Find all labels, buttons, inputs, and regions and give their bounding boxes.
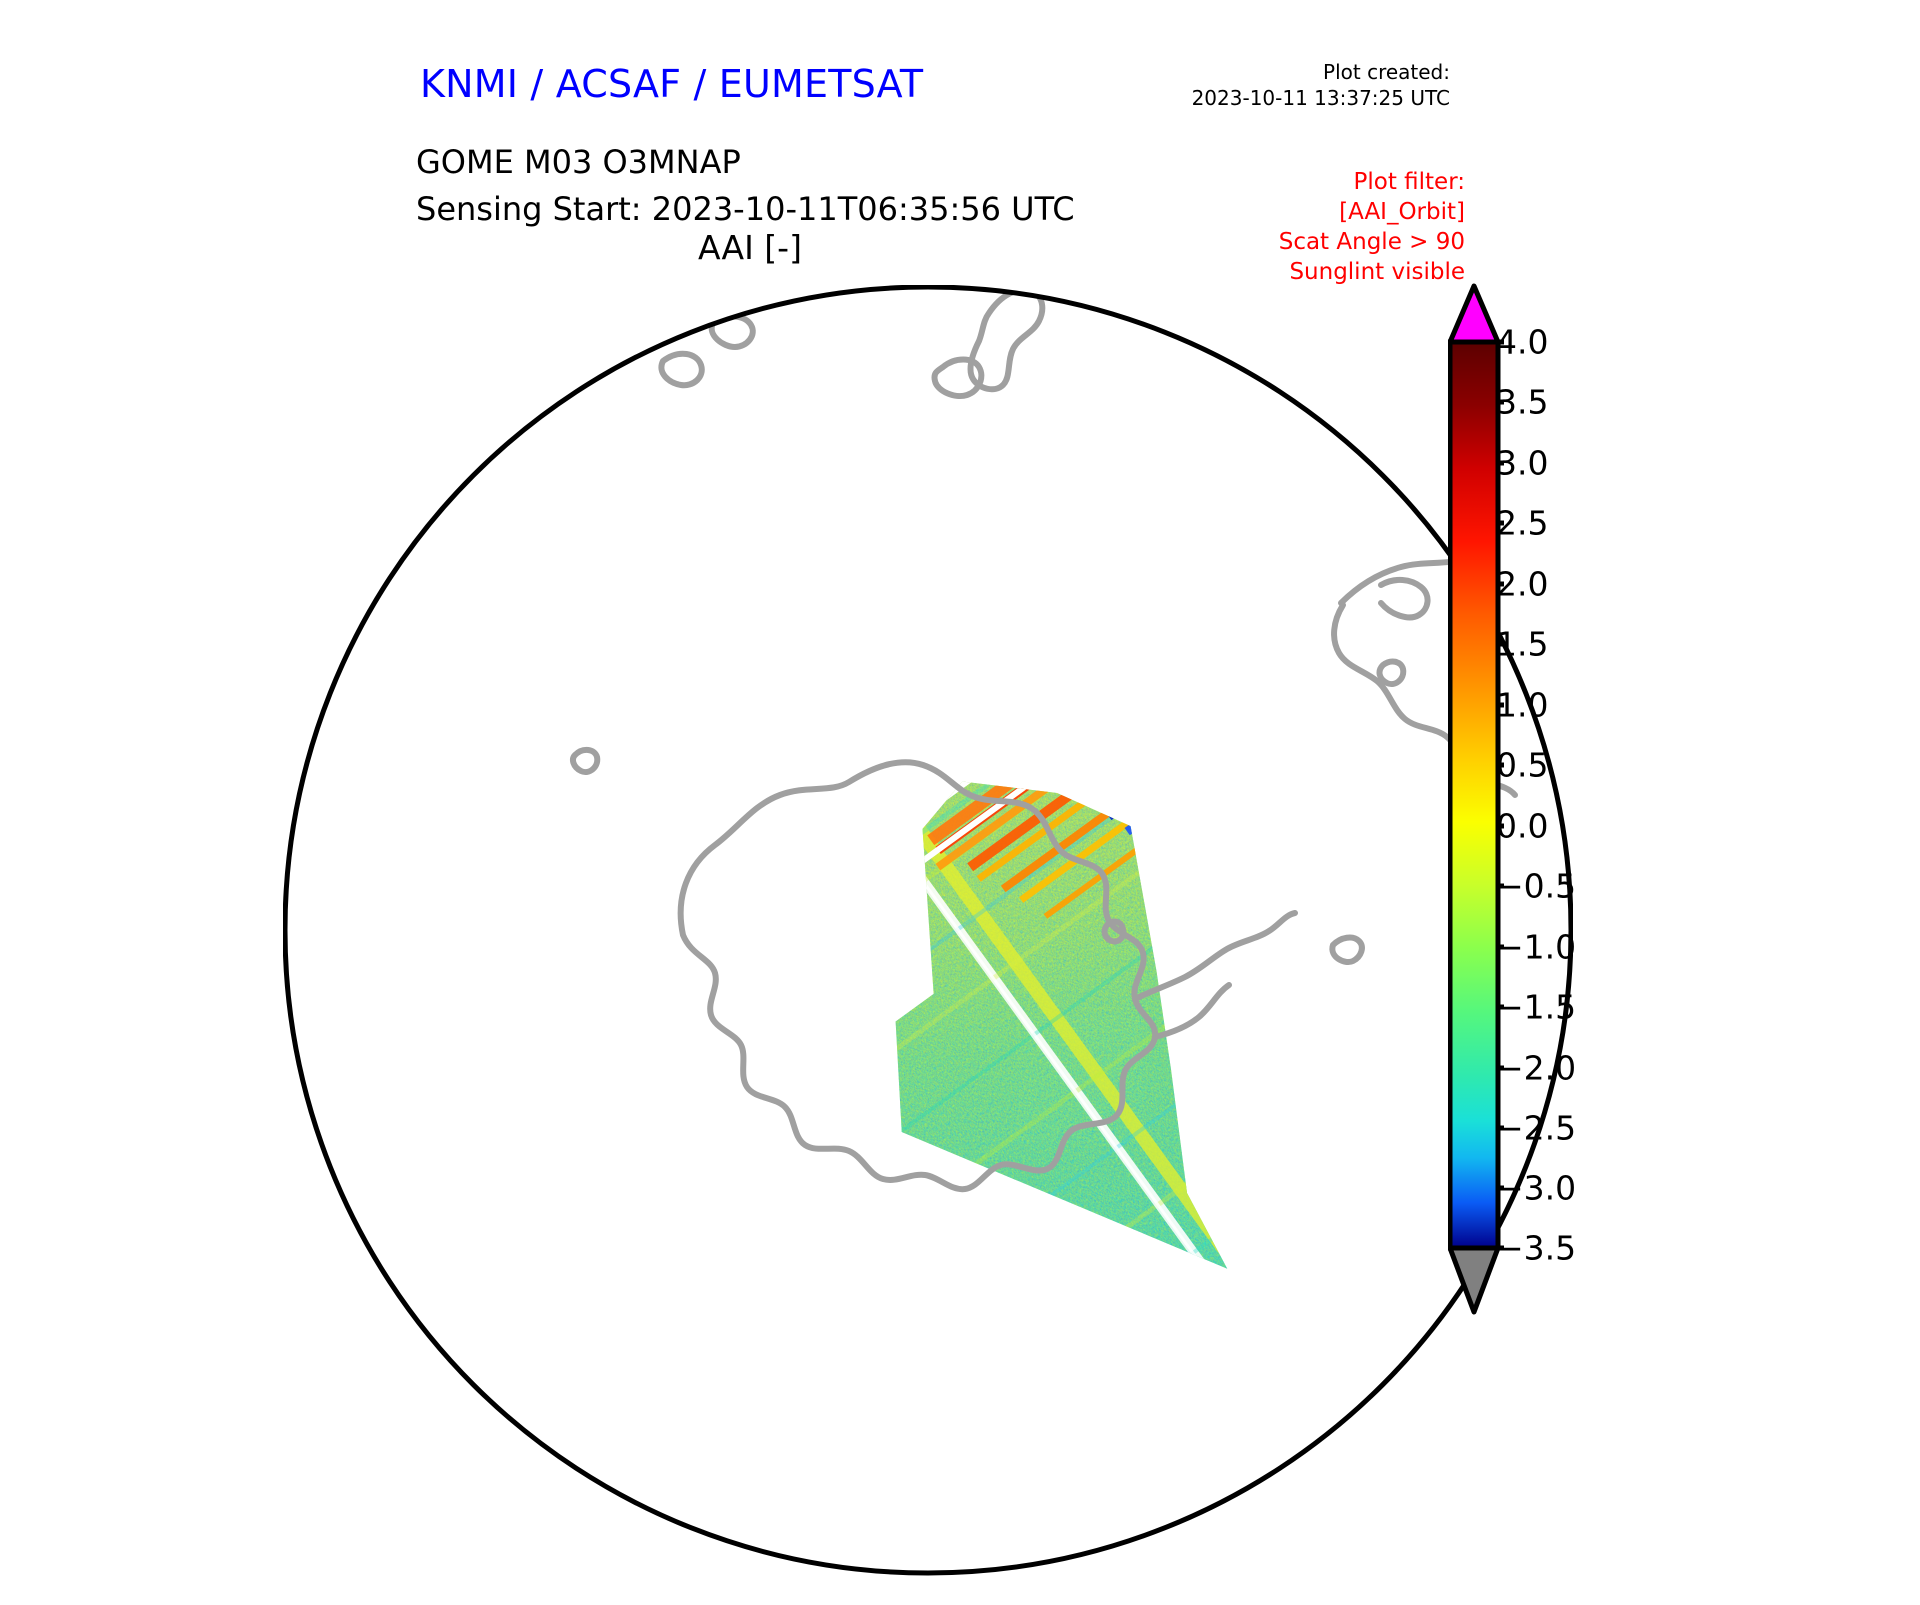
plot-created-label: Plot created: [1192,60,1450,86]
colorbar-under-arrow [1450,1248,1498,1312]
plot-created-block: Plot created: 2023-10-11 13:37:25 UTC [1192,60,1450,111]
sensing-start-line: Sensing Start: 2023-10-11T06:35:56 UTC [416,190,1075,228]
page-title: AAI [-] [0,228,1500,267]
colorbar-tick-labels: 4.0 3.5 3.0 2.5 2.0 1.5 1.0 0.5 0.0 −0.5… [1496,280,1696,1325]
colorbar-tick-label-11: −1.5 [1496,988,1576,1027]
map-contents [283,285,1573,1605]
plot-created-value: 2023-10-11 13:37:25 UTC [1192,86,1450,112]
polar-map [283,285,1573,1605]
plot-filter-line-2: Scat Angle > 90 [1279,228,1465,258]
plot-filter-block: Plot filter: [AAI_Orbit] Scat Angle > 90… [1279,168,1465,288]
colorbar-tick-label-8: 0.0 [1496,807,1548,846]
colorbar-gradient [1450,342,1498,1248]
colorbar-tick-label-10: −1.0 [1496,928,1576,967]
colorbar-tick-label-6: 1.0 [1496,686,1548,725]
plot-filter-line-1: [AAI_Orbit] [1279,198,1465,228]
colorbar-tick-label-0: 4.0 [1496,323,1548,362]
colorbar-tick-label-13: −2.5 [1496,1109,1576,1148]
colorbar-tick-label-4: 2.0 [1496,565,1548,604]
plot-canvas: KNMI / ACSAF / EUMETSAT Plot created: 20… [0,0,1920,1440]
colorbar-tick-label-12: −2.0 [1496,1049,1576,1088]
plot-filter-line-0: Plot filter: [1279,168,1465,198]
plot-filter-line-3: Sunglint visible [1279,258,1465,288]
colorbar-tick-label-3: 2.5 [1496,504,1548,543]
colorbar-tick-label-15: −3.5 [1496,1229,1576,1268]
map-background [283,285,1573,1605]
colorbar-over-arrow [1450,286,1498,342]
colorbar-tick-label-1: 3.5 [1496,383,1548,422]
colorbar-tick-label-5: 1.5 [1496,625,1548,664]
colorbar-tick-label-9: −0.5 [1496,867,1576,906]
brand-title: KNMI / ACSAF / EUMETSAT [420,62,923,106]
map-svg [283,285,1573,1605]
colorbar-tick-label-14: −3.0 [1496,1169,1576,1208]
colorbar-tick-label-2: 3.0 [1496,444,1548,483]
colorbar-tick-label-7: 0.5 [1496,746,1548,785]
product-line: GOME M03 O3MNAP [416,143,741,181]
